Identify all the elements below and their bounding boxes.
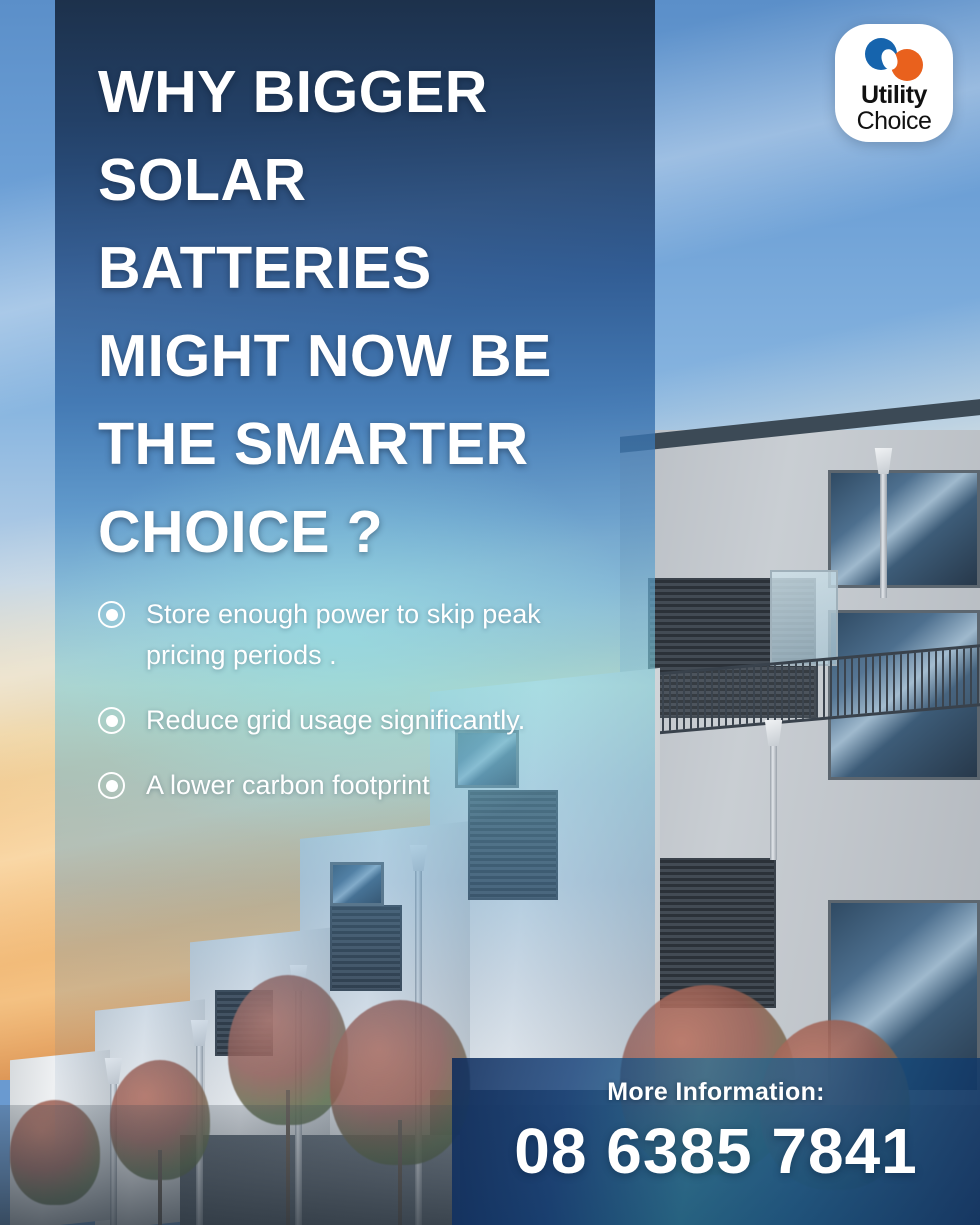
street-lamp: [770, 740, 777, 860]
logo-word-choice: Choice: [835, 108, 953, 134]
more-information-label: More Information:: [452, 1078, 980, 1107]
phone-number[interactable]: 08 6385 7841: [452, 1114, 980, 1188]
benefits-list: Store enough power to skip peak pricing …: [98, 594, 568, 830]
brand-logo: Utility Choice: [835, 24, 953, 142]
headline-line-5: THE SMARTER: [98, 400, 618, 488]
headline-line-3: BATTERIES: [98, 224, 618, 312]
window: [828, 470, 980, 588]
logo-circles-icon: [865, 38, 923, 82]
headline-line-4: MIGHT NOW BE: [98, 312, 618, 400]
list-item-label: Reduce grid usage significantly.: [146, 700, 568, 741]
headline-line-6: CHOICE ?: [98, 488, 618, 576]
street-lamp: [880, 468, 887, 598]
logo-wordmark: Utility Choice: [835, 82, 953, 134]
glass-balcony-panel: [770, 570, 838, 666]
headline-line-1: WHY BIGGER: [98, 48, 618, 136]
logo-word-utility: Utility: [835, 82, 953, 108]
headline-line-2: SOLAR: [98, 136, 618, 224]
list-item: A lower carbon footprint: [98, 765, 568, 806]
page-title: WHY BIGGER SOLAR BATTERIES MIGHT NOW BE …: [98, 48, 618, 576]
list-item: Reduce grid usage significantly.: [98, 700, 568, 741]
solar-battery-promo-poster: WHY BIGGER SOLAR BATTERIES MIGHT NOW BE …: [0, 0, 980, 1225]
list-item-label: A lower carbon footprint: [146, 765, 568, 806]
contact-banner: More Information: 08 6385 7841: [452, 1058, 980, 1225]
list-item-label: Store enough power to skip peak pricing …: [146, 594, 568, 676]
bullet-dot-icon: [98, 601, 125, 628]
bullet-dot-icon: [98, 772, 125, 799]
bullet-dot-icon: [98, 707, 125, 734]
list-item: Store enough power to skip peak pricing …: [98, 594, 568, 676]
